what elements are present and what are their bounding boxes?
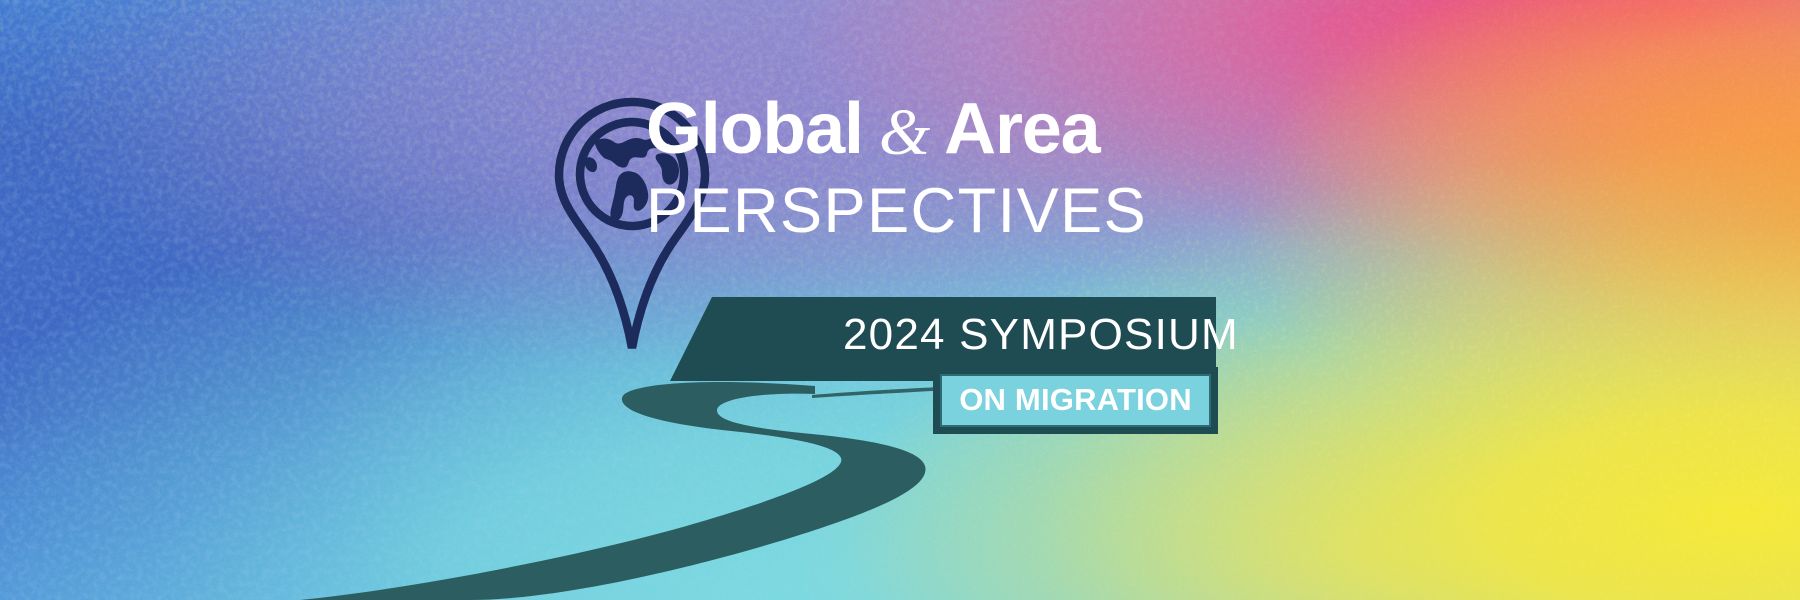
headline-block: Global & Area PERSPECTIVES xyxy=(646,92,1406,245)
symposium-year-label: 2024 SYMPOSIUM xyxy=(843,311,1239,359)
headline-area: Area xyxy=(944,92,1099,166)
ampersand-glyph: & xyxy=(879,96,930,170)
on-migration-label: ON MIGRATION xyxy=(959,384,1192,415)
headline-line-1: Global & Area xyxy=(646,92,1406,169)
headline-perspectives: PERSPECTIVES xyxy=(646,177,1406,245)
background-yellow-glow xyxy=(0,0,1800,600)
on-migration-badge-inner: ON MIGRATION xyxy=(940,374,1211,427)
symposium-banner: Global & Area PERSPECTIVES 2024 SYMPOSIU… xyxy=(0,0,1800,600)
on-migration-badge: ON MIGRATION xyxy=(933,367,1218,434)
headline-global: Global xyxy=(646,92,863,166)
